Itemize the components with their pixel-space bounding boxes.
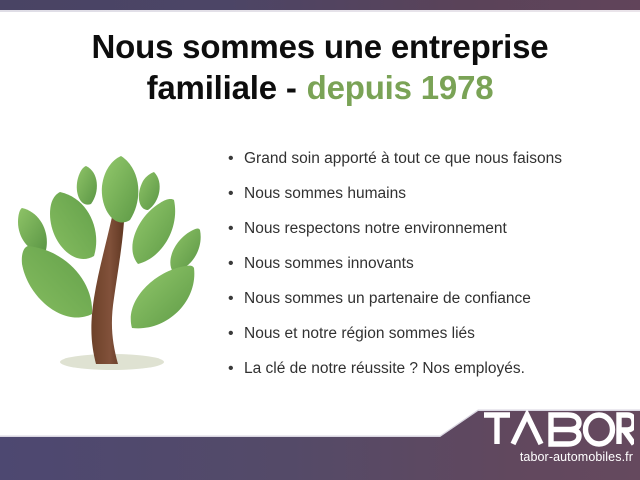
leaf-top-center xyxy=(102,156,139,222)
brand-logo[interactable]: tabor-automobiles.fr xyxy=(478,410,638,472)
top-accent-hairline xyxy=(0,10,640,12)
list-item: • Nous et notre région sommes liés xyxy=(228,323,628,358)
headline-line-2-accent: depuis 1978 xyxy=(307,69,494,106)
list-item: • La clé de notre réussite ? Nos employé… xyxy=(228,358,628,393)
logo-letter-R xyxy=(619,415,634,444)
bullet-icon: • xyxy=(228,358,244,380)
value-list: • Grand soin apporté à tout ce que nous … xyxy=(228,148,628,393)
leaf-upper-left-small xyxy=(77,166,97,205)
leaf-upper-right-small xyxy=(139,172,160,210)
list-item-label: La clé de notre réussite ? Nos employés. xyxy=(244,358,525,380)
logo-letter-A xyxy=(513,415,541,444)
bullet-icon: • xyxy=(228,253,244,275)
list-item: • Nous sommes humains xyxy=(228,183,628,218)
leaf-far-left xyxy=(18,208,47,251)
bullet-icon: • xyxy=(228,323,244,345)
logo-wordmark xyxy=(482,410,634,448)
list-item-label: Grand soin apporté à tout ce que nous fa… xyxy=(244,148,562,170)
slide-canvas: Nous sommes une entreprise familiale -de… xyxy=(0,0,640,480)
list-item: • Nous sommes innovants xyxy=(228,253,628,288)
leaf-far-right xyxy=(170,229,200,273)
bullet-icon: • xyxy=(228,148,244,170)
list-item: • Nous respectons notre environnement xyxy=(228,218,628,253)
logo-letter-B-reversed xyxy=(551,415,579,444)
leaf-mid-right xyxy=(132,199,175,264)
logo-tagline: tabor-automobiles.fr xyxy=(520,450,633,464)
headline-line-1: Nous sommes une entreprise xyxy=(92,28,549,65)
list-item-label: Nous et notre région sommes liés xyxy=(244,323,475,345)
list-item: • Nous sommes un partenaire de confiance xyxy=(228,288,628,323)
bullet-icon: • xyxy=(228,218,244,240)
page-title: Nous sommes une entreprise familiale -de… xyxy=(0,26,640,108)
list-item-label: Nous sommes innovants xyxy=(244,253,414,275)
list-item: • Grand soin apporté à tout ce que nous … xyxy=(228,148,628,183)
tree-illustration xyxy=(14,152,214,392)
top-accent-strip xyxy=(0,0,640,10)
leaf-lower-right xyxy=(131,266,195,329)
list-item-label: Nous respectons notre environnement xyxy=(244,218,507,240)
list-item-label: Nous sommes un partenaire de confiance xyxy=(244,288,531,310)
logo-letter-T xyxy=(484,415,510,444)
headline-line-2-plain: familiale - xyxy=(147,69,297,106)
list-item-label: Nous sommes humains xyxy=(244,183,406,205)
bullet-icon: • xyxy=(228,183,244,205)
bullet-icon: • xyxy=(228,288,244,310)
logo-letter-O xyxy=(586,415,613,444)
